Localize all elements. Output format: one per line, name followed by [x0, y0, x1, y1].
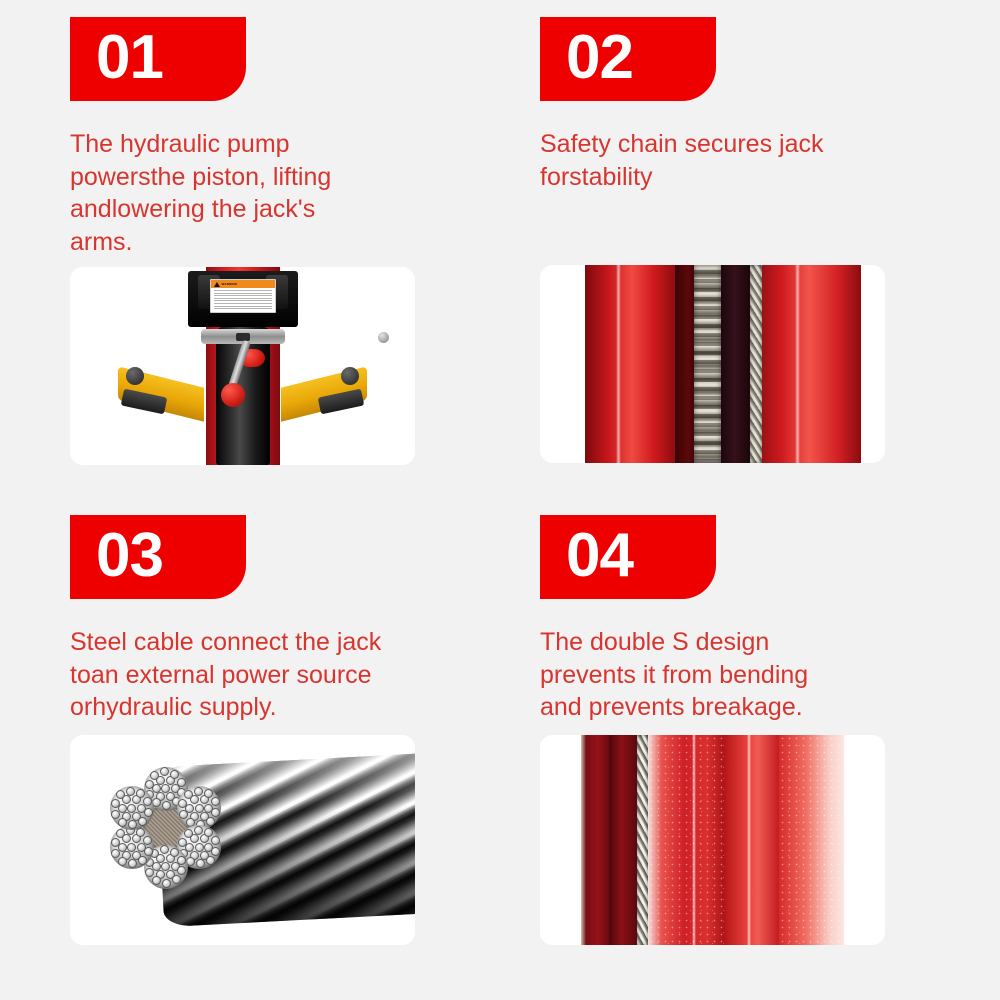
rope-wire — [138, 817, 147, 826]
badge-number-text: 04 — [540, 525, 633, 587]
photo-right-margin — [844, 735, 885, 945]
feature-panel-02: 02 Safety chain secures jack forstabilit… — [540, 17, 960, 467]
photo-left-margin — [540, 265, 585, 463]
arm-knob-left — [126, 367, 144, 385]
feature-caption-04: The double S design prevents it from ben… — [540, 626, 900, 724]
warning-label-body — [211, 288, 275, 313]
warning-triangle-icon — [214, 282, 220, 287]
steel-cable — [637, 735, 648, 945]
gloss-highlight-right — [795, 265, 800, 463]
rope-wire — [179, 810, 188, 819]
hydraulic-pump-jack-photo: WARNING — [70, 267, 415, 465]
safety-chain-photo — [540, 265, 885, 463]
gloss-highlight-1 — [692, 735, 696, 945]
infographic-board: 01 The hydraulic pump powersthe piston, … — [0, 0, 1000, 1000]
rope-wire — [206, 856, 215, 865]
red-column-2 — [648, 735, 724, 945]
dark-slab — [719, 265, 754, 463]
rope-wire — [145, 780, 154, 789]
red-column-1 — [609, 735, 637, 945]
feature-caption-01: The hydraulic pump powersthe piston, lif… — [70, 128, 440, 258]
rope-wire — [204, 828, 213, 837]
rope-wire — [111, 799, 120, 808]
rope-wire — [138, 856, 147, 865]
rope-wire — [126, 787, 135, 796]
rope-wire — [177, 778, 186, 787]
rope-wire — [177, 856, 186, 865]
paint-speckle — [648, 735, 724, 945]
rope-wire — [194, 826, 203, 835]
badge-number-text: 01 — [70, 27, 163, 89]
warning-label-header: WARNING — [211, 280, 275, 288]
rope-wire — [194, 787, 203, 796]
steel-wire-rope-photo — [70, 735, 415, 945]
rope-wire — [211, 797, 220, 806]
rope-wire — [211, 847, 220, 856]
lever-knob — [221, 383, 245, 407]
feature-caption-03: Steel cable connect the jack toan extern… — [70, 626, 440, 724]
rope-wire — [118, 818, 127, 827]
red-column-4 — [779, 735, 844, 945]
red-column-right — [757, 265, 861, 463]
badge-number-text: 02 — [540, 27, 633, 89]
rope-wire — [144, 847, 153, 856]
rope-wire — [118, 857, 127, 866]
steel-cable — [750, 265, 762, 463]
rope-wire — [204, 789, 213, 798]
feature-photo-card-02 — [540, 265, 885, 463]
rope-wire — [206, 817, 215, 826]
number-badge-04: 04 — [540, 515, 716, 599]
collar-stud — [378, 332, 389, 343]
badge-number-text: 03 — [70, 525, 163, 587]
rope-wire — [150, 771, 159, 780]
rope-wire — [111, 838, 120, 847]
rope-wire — [211, 808, 220, 817]
feature-panel-03: 03 Steel cable connect the jack toan ext… — [70, 515, 490, 985]
photo-left-margin — [540, 735, 581, 945]
photo-right-margin — [861, 265, 885, 463]
chain-links — [694, 265, 722, 463]
gloss-highlight-left — [616, 265, 621, 463]
rope-wire — [162, 801, 171, 810]
feature-panel-01: 01 The hydraulic pump powersthe piston, … — [70, 17, 490, 467]
rope-cross-section — [105, 767, 227, 889]
feature-photo-card-03 — [70, 735, 415, 945]
red-column-cable-photo — [540, 735, 885, 945]
red-column-left — [585, 265, 675, 463]
rope-wire — [144, 808, 153, 817]
rope-wire — [172, 875, 181, 884]
rope-wire — [170, 848, 179, 857]
warning-label: WARNING — [210, 279, 276, 313]
rope-wire — [162, 879, 171, 888]
arm-knob-right — [341, 367, 359, 385]
number-badge-03: 03 — [70, 515, 246, 599]
feature-photo-card-04 — [540, 735, 885, 945]
rope-wire — [160, 767, 169, 776]
dark-red-edge — [581, 735, 609, 945]
number-badge-02: 02 — [540, 17, 716, 101]
feature-photo-card-01: WARNING — [70, 267, 415, 465]
rope-wire — [170, 770, 179, 779]
rope-wire — [160, 845, 169, 854]
red-column-3 — [724, 735, 779, 945]
feature-caption-02: Safety chain secures jack forstability — [540, 128, 900, 193]
safety-chain — [694, 265, 722, 463]
rope-wire — [211, 836, 220, 845]
number-badge-01: 01 — [70, 17, 246, 101]
feature-panel-04: 04 The double S design prevents it from … — [540, 515, 960, 985]
paint-speckle — [779, 735, 844, 945]
gloss-highlight-2 — [747, 735, 751, 945]
warning-label-text: WARNING — [222, 282, 238, 286]
